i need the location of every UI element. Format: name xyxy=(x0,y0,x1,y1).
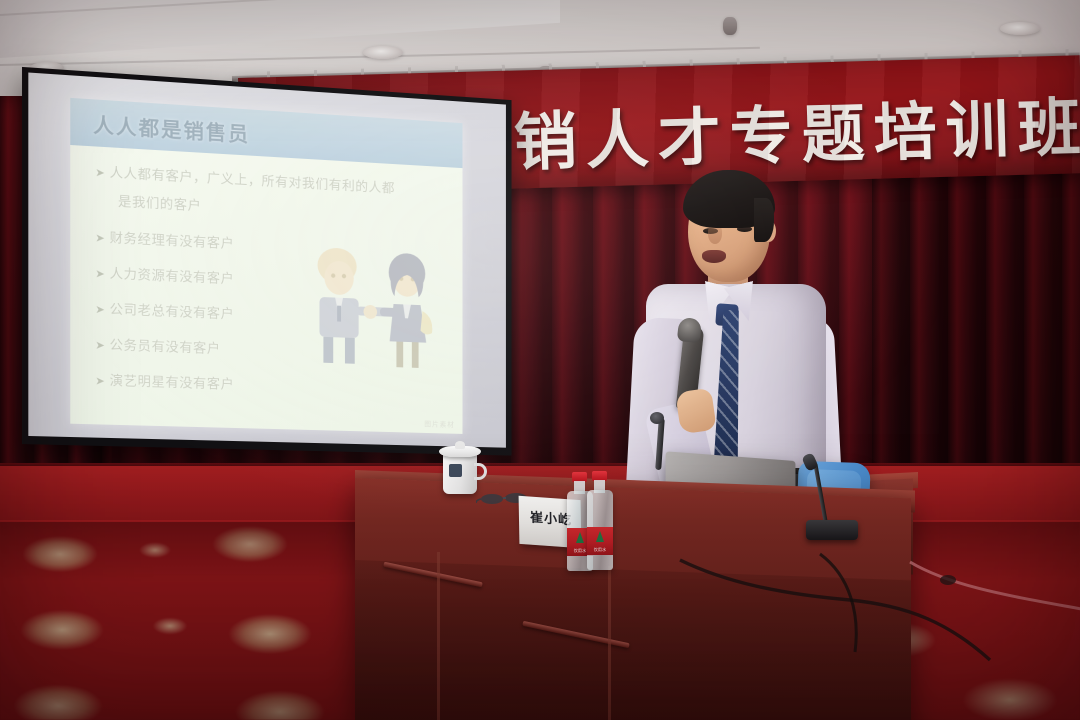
speaker-hand-holding-mic xyxy=(675,388,716,435)
projection-screen: 人人都是销售员 ➤人人都有客户，广义上，所有对我们有利的人都 是我们的客户 ➤财… xyxy=(22,67,512,456)
speaker-hair-side xyxy=(754,198,774,242)
bullet-marker-icon: ➤ xyxy=(95,304,105,317)
presentation-photo-scene: 国标 销人才专题培训班 人人都是销售员 ➤人人都有客户，广义上，所有对我们有利的… xyxy=(0,0,1080,720)
slide-bullet: ➤财务经理有没有客户 xyxy=(95,226,234,252)
bullet-marker-icon: ➤ xyxy=(95,340,105,353)
bullet-text: 公司老总有没有客户 xyxy=(110,301,235,321)
ceiling-sensor xyxy=(723,17,737,35)
slide-bullet-continuation: 是我们的客户 xyxy=(118,191,201,215)
bullet-text: 财务经理有没有客户 xyxy=(110,230,235,251)
ceiling-light xyxy=(1000,22,1040,35)
cup-logo-icon xyxy=(449,464,462,477)
bullet-text: 人力资源有没有客户 xyxy=(110,266,235,287)
bullet-text: 人人都有客户，广义上，所有对我们有利的人都 xyxy=(110,165,395,196)
slide-body: ➤人人都有客户，广义上，所有对我们有利的人都 是我们的客户 ➤财务经理有没有客户… xyxy=(70,145,462,434)
desk-microphone-head-icon xyxy=(650,412,664,424)
cable-group xyxy=(350,540,1080,720)
gooseneck-mic-base xyxy=(806,520,858,540)
bullet-marker-icon: ➤ xyxy=(95,232,105,245)
presentation-slide: 人人都是销售员 ➤人人都有客户，广义上，所有对我们有利的人都 是我们的客户 ➤财… xyxy=(70,98,462,434)
slide-bullet: ➤演艺明星有没有客户 xyxy=(95,369,234,393)
bullet-text: 公务员有没有客户 xyxy=(110,337,221,356)
bullet-marker-icon: ➤ xyxy=(95,268,105,281)
cup-lid-knob xyxy=(455,441,465,449)
speaker-mouth xyxy=(702,250,726,263)
slide-bullet: ➤公务员有没有客户 xyxy=(95,333,220,357)
bullet-text: 演艺明星有没有客户 xyxy=(110,373,235,392)
slide-watermark: 图片素材 xyxy=(424,419,455,430)
ceiling-light xyxy=(363,46,403,59)
slide-bullet: ➤人力资源有没有客户 xyxy=(95,262,234,287)
slide-bullet: ➤公司老总有没有客户 xyxy=(95,298,234,323)
handshake-illustration-icon xyxy=(296,242,442,386)
bullet-marker-icon: ➤ xyxy=(95,167,105,180)
bullet-marker-icon: ➤ xyxy=(95,375,105,388)
projection-screen-surface: 人人都是销售员 ➤人人都有客户，广义上，所有对我们有利的人都 是我们的客户 ➤财… xyxy=(28,73,506,448)
